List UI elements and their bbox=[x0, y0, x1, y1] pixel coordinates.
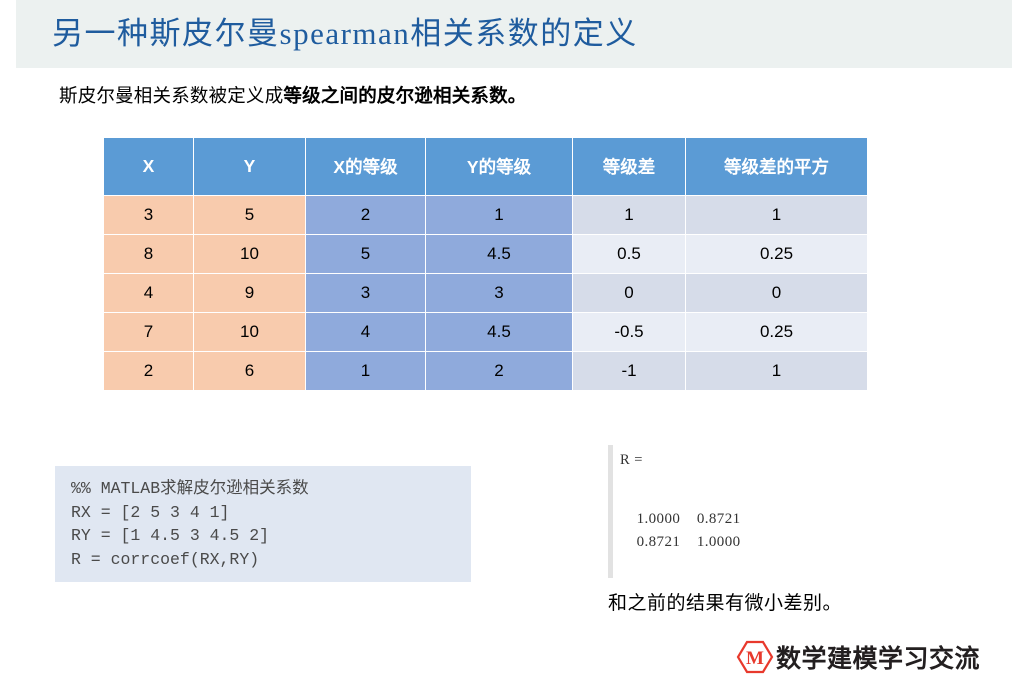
cell-y: 9 bbox=[194, 274, 305, 312]
svg-text:M: M bbox=[746, 648, 764, 669]
cell-y: 10 bbox=[194, 313, 305, 351]
cell-y-rank: 4.5 bbox=[426, 235, 572, 273]
cell-y-rank: 1 bbox=[426, 196, 572, 234]
cell-rank-diff: 1 bbox=[573, 196, 685, 234]
cell-y-rank: 3 bbox=[426, 274, 572, 312]
table-row: 3 5 2 1 1 1 bbox=[104, 196, 867, 234]
cell-x-rank: 4 bbox=[306, 313, 425, 351]
cell-y: 10 bbox=[194, 235, 305, 273]
subtitle-normal-part: 斯皮尔曼相关系数被定义成 bbox=[59, 85, 283, 106]
cell-y: 6 bbox=[194, 352, 305, 390]
cell-x-rank: 2 bbox=[306, 196, 425, 234]
matlab-code-text: %% MATLAB求解皮尔逊相关系数 RX = [2 5 3 4 1] RY =… bbox=[55, 466, 471, 571]
output-label-r: R = bbox=[620, 452, 643, 469]
cell-rank-diff-square: 1 bbox=[686, 352, 867, 390]
column-header-rank-diff-square: 等级差的平方 bbox=[686, 138, 867, 195]
column-header-y: Y bbox=[194, 138, 305, 195]
cell-x-rank: 5 bbox=[306, 235, 425, 273]
brand-logo-text: 数学建模学习交流 bbox=[776, 639, 980, 675]
table-header-row: X Y X的等级 Y的等级 等级差 等级差的平方 bbox=[104, 138, 867, 195]
cell-x-rank: 1 bbox=[306, 352, 425, 390]
cell-y: 5 bbox=[194, 196, 305, 234]
cell-x: 7 bbox=[104, 313, 193, 351]
title-band: 另一种斯皮尔曼spearman相关系数的定义 bbox=[16, 0, 1012, 68]
cell-x-rank: 3 bbox=[306, 274, 425, 312]
page-title: 另一种斯皮尔曼spearman相关系数的定义 bbox=[52, 8, 638, 53]
table-row: 2 6 1 2 -1 1 bbox=[104, 352, 867, 390]
subtitle-text: 斯皮尔曼相关系数被定义成等级之间的皮尔逊相关系数。 bbox=[59, 82, 527, 108]
table-row: 8 10 5 4.5 0.5 0.25 bbox=[104, 235, 867, 273]
output-correlation-matrix: 1.0000 0.8721 0.8721 1.0000 bbox=[620, 508, 741, 554]
subtitle-bold-part: 等级之间的皮尔逊相关系数。 bbox=[283, 85, 526, 106]
table-row: 4 9 3 3 0 0 bbox=[104, 274, 867, 312]
cell-rank-diff-square: 0 bbox=[686, 274, 867, 312]
rank-table: X Y X的等级 Y的等级 等级差 等级差的平方 3 5 2 1 1 1 8 1… bbox=[103, 137, 868, 391]
cell-y-rank: 2 bbox=[426, 352, 572, 390]
matlab-code-block: %% MATLAB求解皮尔逊相关系数 RX = [2 5 3 4 1] RY =… bbox=[55, 466, 471, 582]
cell-x: 2 bbox=[104, 352, 193, 390]
cell-rank-diff-square: 1 bbox=[686, 196, 867, 234]
cell-x: 4 bbox=[104, 274, 193, 312]
cell-rank-diff-square: 0.25 bbox=[686, 313, 867, 351]
output-accent-bar bbox=[608, 445, 613, 578]
column-header-y-rank: Y的等级 bbox=[426, 138, 572, 195]
cell-rank-diff: -0.5 bbox=[573, 313, 685, 351]
hexagon-m-icon: M bbox=[736, 640, 774, 674]
cell-rank-diff: 0.5 bbox=[573, 235, 685, 273]
cell-rank-diff: -1 bbox=[573, 352, 685, 390]
cell-rank-diff-square: 0.25 bbox=[686, 235, 867, 273]
brand-logo: M 数学建模学习交流 bbox=[736, 639, 980, 675]
column-header-x-rank: X的等级 bbox=[306, 138, 425, 195]
table-row: 7 10 4 4.5 -0.5 0.25 bbox=[104, 313, 867, 351]
column-header-x: X bbox=[104, 138, 193, 195]
cell-rank-diff: 0 bbox=[573, 274, 685, 312]
output-note-text: 和之前的结果有微小差别。 bbox=[608, 588, 842, 615]
cell-y-rank: 4.5 bbox=[426, 313, 572, 351]
cell-x: 3 bbox=[104, 196, 193, 234]
cell-x: 8 bbox=[104, 235, 193, 273]
column-header-rank-diff: 等级差 bbox=[573, 138, 685, 195]
